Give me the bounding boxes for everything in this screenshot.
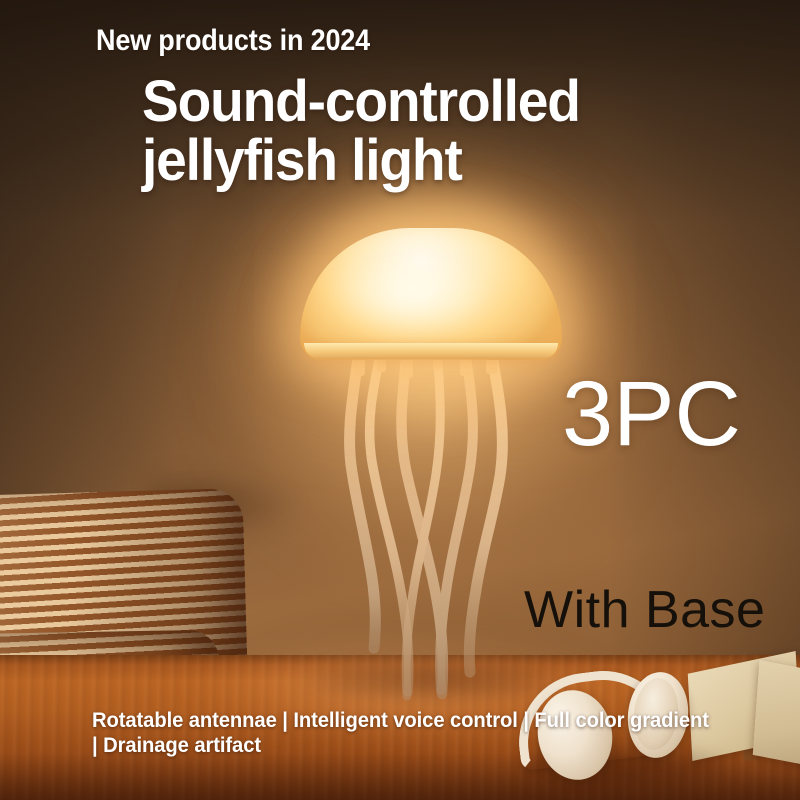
quantity-badge: 3PC bbox=[562, 368, 741, 460]
product-ad-image: New products in 2024 Sound-controlled je… bbox=[0, 0, 800, 800]
eyebrow-text: New products in 2024 bbox=[96, 24, 370, 58]
lamp-dome-rim bbox=[304, 343, 558, 359]
headline-line-1: Sound-controlled bbox=[142, 72, 580, 131]
headline-line-2: jellyfish light bbox=[142, 131, 580, 190]
feature-list-text: Rotatable antennae | Intelligent voice c… bbox=[92, 708, 716, 758]
with-base-badge: With Base bbox=[524, 584, 765, 636]
page-title: Sound-controlled jellyfish light bbox=[142, 72, 580, 190]
lamp-dome-highlight bbox=[336, 258, 486, 332]
